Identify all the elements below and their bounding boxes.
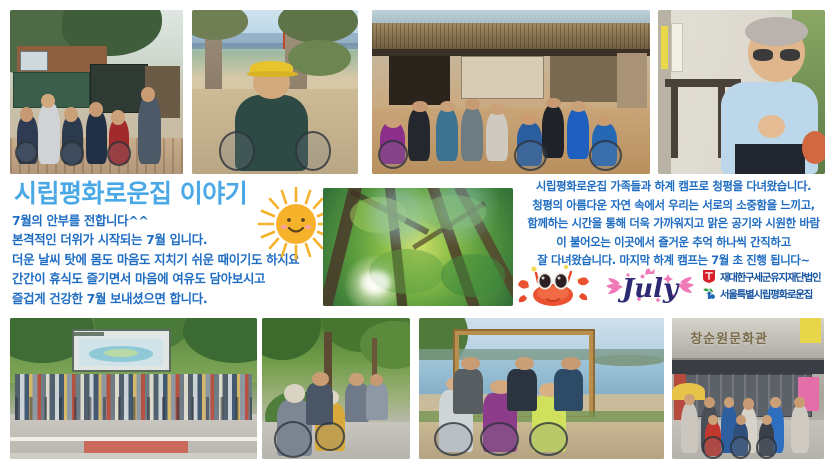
salvation-army-shield-icon — [702, 269, 716, 284]
logo-row-salvation-army: 재대한구세군유지재단법인 — [702, 268, 833, 285]
photo-group-at-thatched-house — [372, 10, 650, 174]
photo-walking-on-tree-lined-path — [262, 318, 410, 459]
photo-large-group-at-park-map — [10, 318, 257, 459]
peace-house-emblem-icon — [702, 286, 716, 301]
crab-sticker — [516, 262, 590, 308]
logo-label-peace-house: 서울특별시립평화로운집 — [720, 286, 812, 301]
building-sign-text: 창순원문화관 — [690, 328, 768, 347]
organization-logos: 재대한구세군유지재단법인 서울특별시립평화로운집 — [702, 268, 833, 302]
right-line-1: 시립평화로운집 가족들과 하계 캠프로 청평을 다녀왔습니다. — [512, 177, 835, 196]
photo-lakeside-photo-frame — [419, 318, 664, 459]
left-line-5: 즐겁게 건강한 7월 보내셨으면 합니다. — [12, 289, 322, 308]
photo-smiling-resident-portrait — [658, 10, 825, 174]
july-word-art: July — [604, 266, 696, 306]
right-line-3: 함께하는 시간을 통해 더욱 가까워지고 맑은 공기와 시원한 바람 — [512, 214, 835, 233]
logo-label-salvation-army: 재대한구세군유지재단법인 — [720, 269, 820, 284]
photo-in-front-of-cheongsu-hall: 창순원문화관 — [672, 318, 824, 459]
newsletter-page: 시립평화로운집 이야기 7월의 안부를 전합니다^^ 본격적인 더위가 시작되는… — [0, 0, 835, 469]
right-message-block: 시립평화로운집 가족들과 하계 캠프로 청평을 다녀왔습니다. 청평의 아름다운… — [512, 177, 835, 270]
left-line-4: 간간이 휴식도 즐기면서 마음에 여유도 담아보시고 — [12, 269, 322, 288]
right-line-2: 청평의 아름다운 자연 속에서 우리는 서로의 소중함을 느끼고, — [512, 196, 835, 215]
photo-forest-canopy — [323, 188, 513, 306]
logo-row-peace-house: 서울특별시립평화로운집 — [702, 285, 833, 302]
right-line-4: 이 불어오는 이곳에서 즐거운 추억 하나씩 간직하고 — [512, 233, 835, 252]
page-title: 시립평화로운집 이야기 — [14, 180, 247, 209]
photo-group-at-visitor-center — [10, 10, 183, 174]
photo-man-in-yellow-cap — [192, 10, 358, 174]
svg-text:July: July — [617, 274, 680, 304]
